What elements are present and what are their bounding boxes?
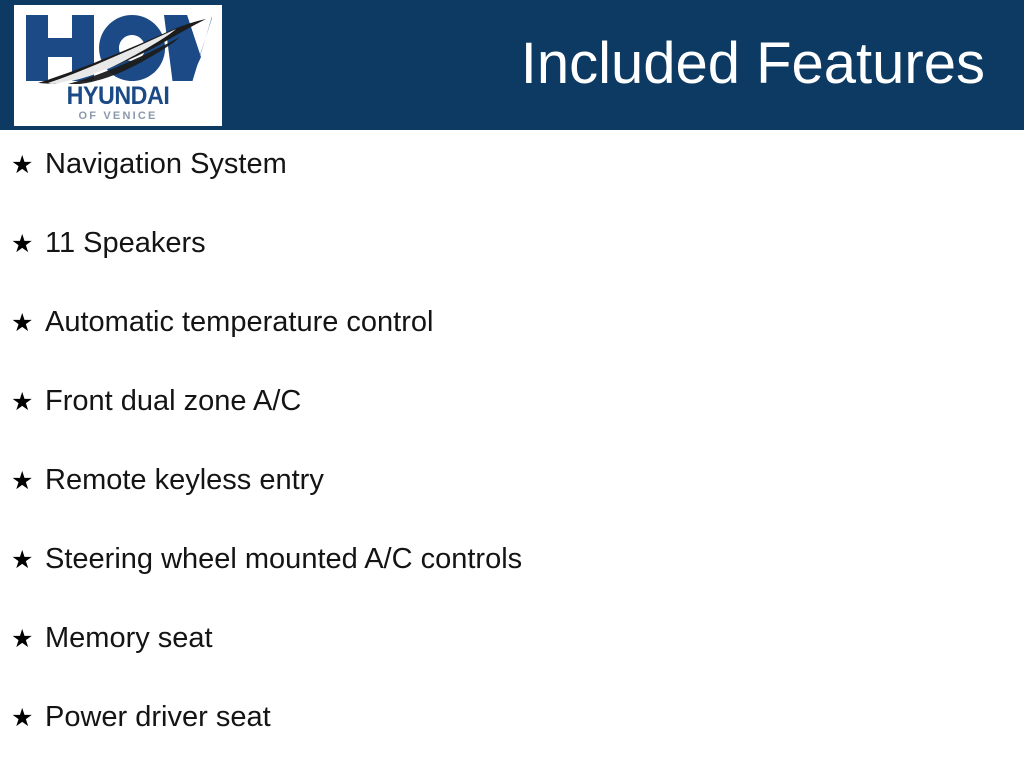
list-item: ★ 11 Speakers (0, 227, 1024, 306)
list-item-label: Automatic temperature control (45, 306, 433, 338)
page-title: Included Features (521, 29, 985, 99)
list-item-label: 11 Speakers (45, 227, 206, 259)
list-item: ★ Front dual zone A/C (0, 385, 1024, 464)
logo-locality-text: OF VENICE (14, 110, 222, 122)
header-band: HYUNDAI OF VENICE Included Features (0, 0, 1024, 130)
star-bullet-icon: ★ (11, 623, 45, 655)
list-item-label: Front dual zone A/C (45, 385, 301, 417)
star-bullet-icon: ★ (11, 702, 45, 734)
list-item: ★ Steering wheel mounted A/C controls (0, 543, 1024, 622)
list-item: ★ Memory seat (0, 622, 1024, 701)
list-item-label: Power driver seat (45, 701, 271, 733)
star-bullet-icon: ★ (11, 228, 45, 260)
star-bullet-icon: ★ (11, 386, 45, 418)
star-bullet-icon: ★ (11, 307, 45, 339)
list-item: ★ Navigation System (0, 148, 1024, 227)
list-item: ★ Remote keyless entry (0, 464, 1024, 543)
list-item-label: Remote keyless entry (45, 464, 324, 496)
logo-brand-text: HYUNDAI (21, 84, 214, 109)
list-item: ★ Automatic temperature control (0, 306, 1024, 385)
dealer-logo: HYUNDAI OF VENICE (14, 5, 222, 126)
star-bullet-icon: ★ (11, 465, 45, 497)
list-item: ★ Power driver seat (0, 701, 1024, 780)
list-item-label: Steering wheel mounted A/C controls (45, 543, 522, 575)
list-item-label: Navigation System (45, 148, 287, 180)
slide-root: HYUNDAI OF VENICE Included Features ★ Na… (0, 0, 1024, 768)
list-item-label: Memory seat (45, 622, 213, 654)
star-bullet-icon: ★ (11, 149, 45, 181)
hov-wordmark-icon (24, 13, 212, 85)
included-features-list: ★ Navigation System ★ 11 Speakers ★ Auto… (0, 148, 1024, 780)
star-bullet-icon: ★ (11, 544, 45, 576)
